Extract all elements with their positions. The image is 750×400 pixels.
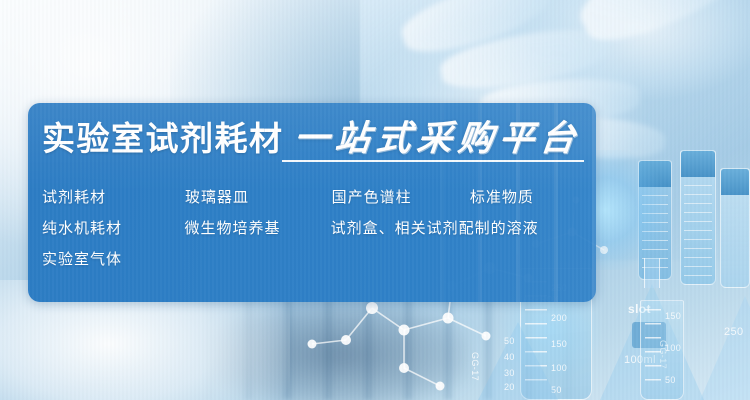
- cryo-vial-3: [720, 168, 750, 288]
- category-item-glassware[interactable]: 玻璃器皿: [185, 186, 332, 207]
- graduated-cylinder-right: 150 100 50: [640, 300, 684, 400]
- category-row: 试剂耗材 玻璃器皿 国产色谱柱 标准物质: [42, 181, 582, 212]
- small-flask-code: GG-17: [470, 352, 480, 381]
- category-item-water-purifier-consumables[interactable]: 纯水机耗材: [42, 217, 184, 238]
- category-item-microbial-culture-media[interactable]: 微生物培养基: [184, 217, 330, 238]
- category-item-reagent-consumables[interactable]: 试剂耗材: [42, 186, 185, 207]
- vial-graduations: [684, 185, 712, 276]
- small-flask-tick-30: 30: [504, 368, 515, 378]
- erlenmeyer-flask-small: 50 40 30 20 GG-17: [478, 318, 558, 400]
- erlenmeyer-flask-right: 250: [700, 292, 750, 400]
- promo-banner: 250 APPROX 200 150 100 50 slot 100ml GG-…: [0, 0, 750, 400]
- headline: 实验室试剂耗材 一站式采购平台: [42, 119, 581, 159]
- headline-calligraphy-text: 一站式采购平台: [291, 119, 582, 159]
- category-item-reagent-kits-solutions[interactable]: 试剂盒、相关试剂配制的溶液: [331, 217, 582, 238]
- small-flask-tick-40: 40: [504, 352, 515, 362]
- content-panel: 实验室试剂耗材 一站式采购平台 试剂耗材 玻璃器皿 国产色谱柱 标准物质 纯水机…: [28, 103, 596, 302]
- category-grid: 试剂耗材 玻璃器皿 国产色谱柱 标准物质 纯水机耗材 微生物培养基 试剂盒、相关…: [42, 181, 582, 274]
- small-flask-tick-20: 20: [504, 382, 515, 392]
- headline-main-text: 实验室试剂耗材: [42, 119, 284, 159]
- category-row: 纯水机耗材 微生物培养基 试剂盒、相关试剂配制的溶液: [42, 212, 582, 243]
- headline-underline: [282, 160, 584, 162]
- category-item-lab-gases[interactable]: 实验室气体: [42, 248, 195, 269]
- category-item-reference-material[interactable]: 标准物质: [470, 186, 582, 207]
- category-row: 实验室气体: [42, 243, 582, 274]
- cylinder-tick-150: 150: [665, 311, 681, 321]
- category-item-domestic-chromatography-column[interactable]: 国产色谱柱: [332, 186, 470, 207]
- small-flask-tick-50: 50: [504, 336, 515, 346]
- cylinder-graduations: [645, 309, 661, 389]
- vial-cap: [721, 169, 749, 195]
- flask-right-volume: 250: [724, 326, 744, 338]
- cylinder-tick-100: 100: [665, 343, 681, 353]
- vial-cap: [681, 151, 715, 177]
- cylinder-tick-50: 50: [665, 375, 676, 385]
- cryo-vial-2: [680, 150, 716, 285]
